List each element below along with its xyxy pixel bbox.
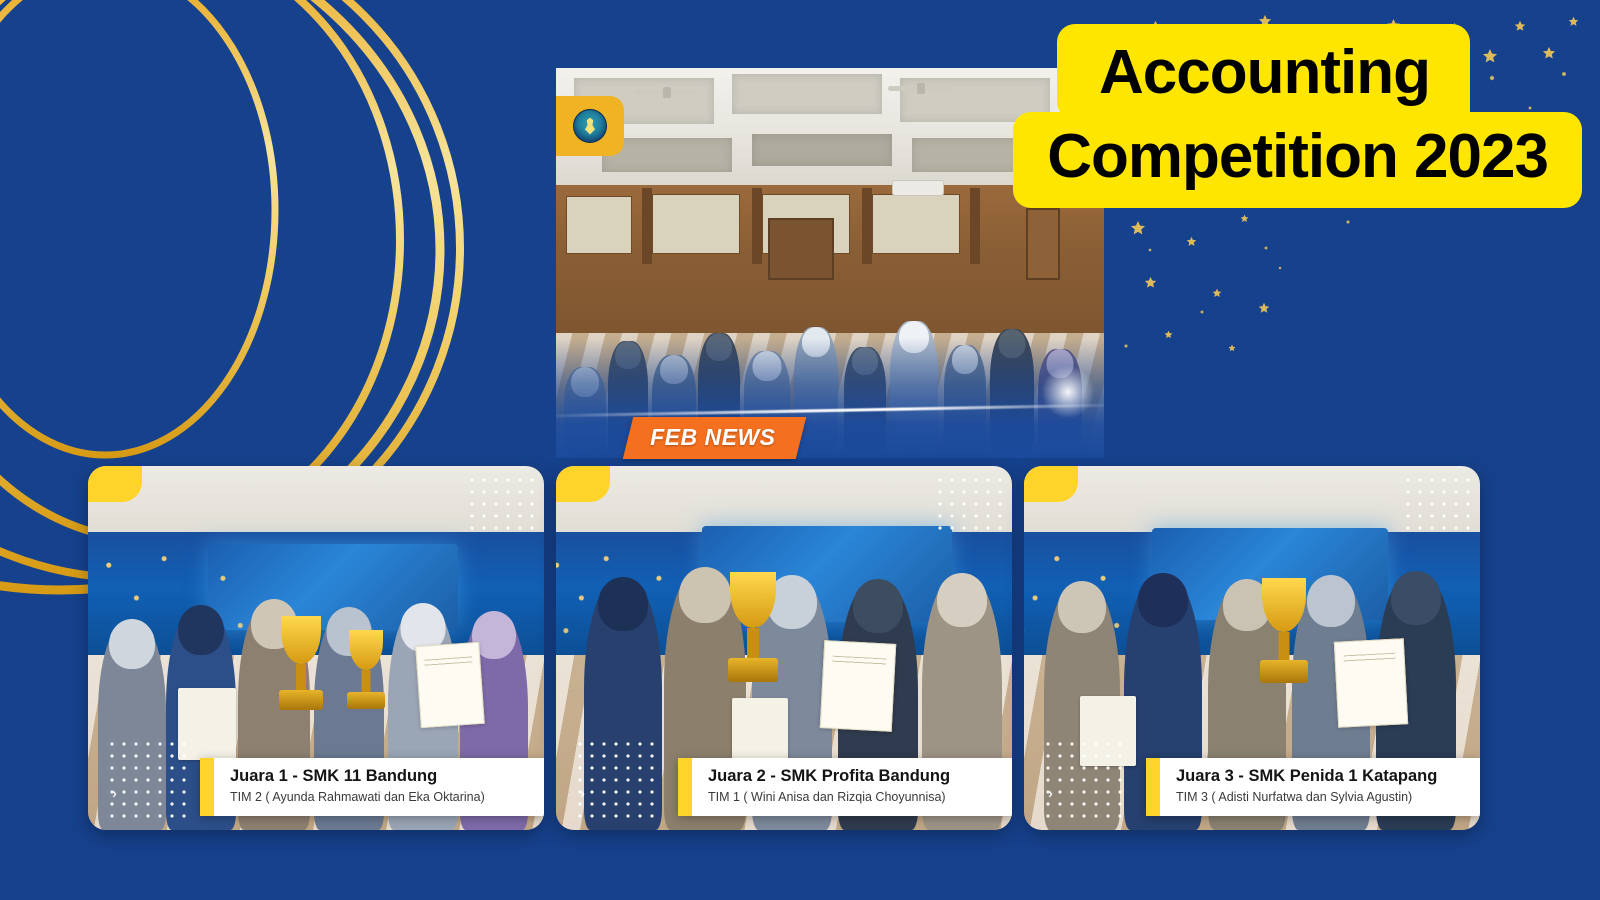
dot-grid-icon <box>466 474 538 536</box>
card-corner-accent <box>1024 466 1078 502</box>
university-emblem-badge <box>556 96 624 156</box>
winner-card-1[interactable]: › Juara 1 - SMK 11 Bandung TIM 2 ( Ayund… <box>88 466 544 830</box>
title-line-1: Accounting <box>1057 24 1470 120</box>
card-title: Juara 1 - SMK 11 Bandung <box>230 767 522 787</box>
chevron-right-icon[interactable]: › <box>580 785 585 802</box>
dot-grid-icon <box>574 738 660 822</box>
chevron-right-icon[interactable]: › <box>112 785 117 802</box>
dot-grid-icon <box>1402 474 1474 536</box>
card-subtitle: TIM 3 ( Adisti Nurfatwa dan Sylvia Agust… <box>1176 789 1458 806</box>
winner-card-3[interactable]: › Juara 3 - SMK Penida 1 Katapang TIM 3 … <box>1024 466 1480 830</box>
card-subtitle: TIM 2 ( Ayunda Rahmawati dan Eka Oktarin… <box>230 789 522 806</box>
card-caption-3: Juara 3 - SMK Penida 1 Katapang TIM 3 ( … <box>1146 758 1480 816</box>
card-caption-1: Juara 1 - SMK 11 Bandung TIM 2 ( Ayunda … <box>200 758 544 816</box>
university-emblem-icon <box>573 109 607 143</box>
chevron-right-icon[interactable]: › <box>1048 785 1053 802</box>
caption-accent-bar <box>200 758 214 816</box>
card-corner-accent <box>88 466 142 502</box>
page-title: Accounting Competition 2023 <box>1013 24 1582 208</box>
card-title: Juara 3 - SMK Penida 1 Katapang <box>1176 767 1458 787</box>
card-title: Juara 2 - SMK Profita Bandung <box>708 767 990 787</box>
feb-news-label: FEB NEWS <box>650 424 775 451</box>
dot-grid-icon <box>934 474 1006 536</box>
caption-accent-bar <box>1146 758 1160 816</box>
feb-news-ribbon: FEB NEWS <box>623 417 807 459</box>
poster-canvas: FEB NEWS Accounting Competition 2023 <box>0 0 1600 900</box>
card-subtitle: TIM 1 ( Wini Anisa dan Rizqia Choyunnisa… <box>708 789 990 806</box>
winner-cards-row: › Juara 1 - SMK 11 Bandung TIM 2 ( Ayund… <box>0 466 1600 830</box>
winner-card-2[interactable]: › Juara 2 - SMK Profita Bandung TIM 1 ( … <box>556 466 1012 830</box>
card-caption-2: Juara 2 - SMK Profita Bandung TIM 1 ( Wi… <box>678 758 1012 816</box>
caption-accent-bar <box>678 758 692 816</box>
card-corner-accent <box>556 466 610 502</box>
dot-grid-icon <box>1042 738 1128 822</box>
title-line-2: Competition 2023 <box>1013 112 1582 208</box>
dot-grid-icon <box>106 738 192 822</box>
